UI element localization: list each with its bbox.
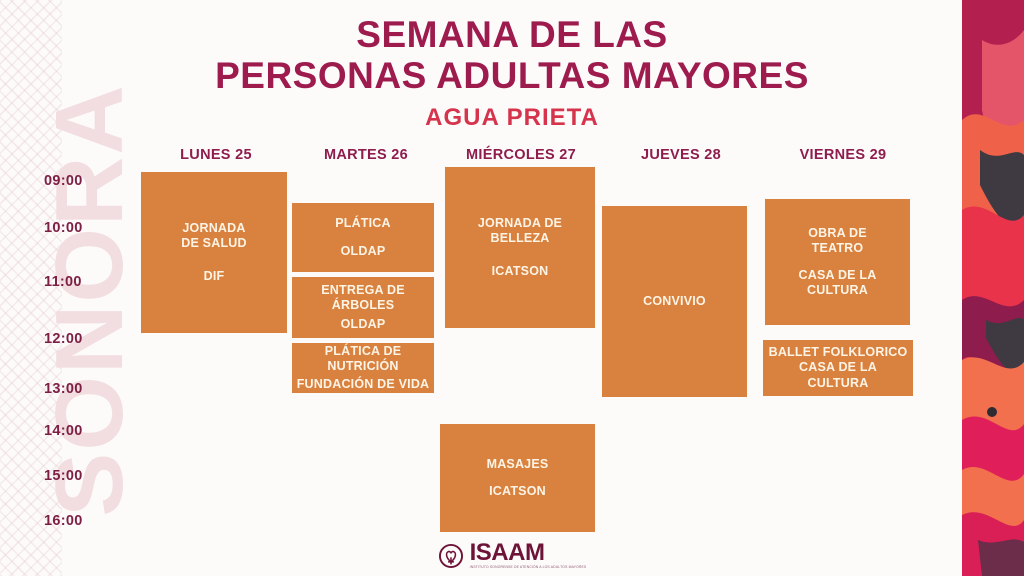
- event-title: JORNADA DE BELLEZA: [478, 216, 562, 247]
- day-header-jueves-28: JUEVES 28: [602, 147, 760, 163]
- day-header-martes-26: MARTES 26: [292, 147, 440, 163]
- event-block-entrega-de-arboles[interactable]: ENTREGA DE ÁRBOLES OLDAP: [292, 277, 434, 338]
- event-organizer: CASA DE LA CULTURA: [799, 360, 877, 391]
- event-organizer: CASA DE LA CULTURA: [799, 268, 877, 299]
- event-title: PLÁTICA: [335, 216, 391, 231]
- time-label-1300: 13:00: [44, 381, 114, 397]
- event-organizer: ICATSON: [492, 264, 549, 279]
- day-header-viernes-29: VIERNES 29: [760, 147, 926, 163]
- event-block-masajes[interactable]: MASAJES ICATSON: [440, 424, 595, 532]
- time-label-1600: 16:00: [44, 513, 114, 529]
- isaam-tagline: INSTITUTO SONORENSE DE ATENCIÓN A LOS AD…: [470, 566, 587, 570]
- time-label-0900: 09:00: [44, 173, 114, 189]
- day-header-miercoles-27: MIÉRCOLES 27: [440, 147, 602, 163]
- isaam-emblem-icon: [438, 543, 464, 569]
- time-label-1500: 15:00: [44, 468, 114, 484]
- event-block-platica-de-nutricion[interactable]: PLÁTICA DE NUTRICIÓN FUNDACIÓN DE VIDA: [292, 343, 434, 393]
- event-organizer: OLDAP: [341, 317, 386, 332]
- event-block-jornada-de-salud[interactable]: JORNADA DE SALUD DIF: [141, 172, 287, 333]
- event-organizer: FUNDACIÓN DE VIDA: [297, 377, 430, 392]
- time-label-1200: 12:00: [44, 331, 114, 347]
- event-block-platica-oldap[interactable]: PLÁTICA OLDAP: [292, 203, 434, 272]
- event-title: MASAJES: [487, 457, 549, 472]
- event-title: CONVIVIO: [643, 294, 706, 309]
- event-block-convivio[interactable]: CONVIVIO: [602, 206, 747, 397]
- event-block-obra-de-teatro[interactable]: OBRA DE TEATRO CASA DE LA CULTURA: [765, 199, 910, 325]
- day-header-lunes-25: LUNES 25: [140, 147, 292, 163]
- event-block-jornada-de-belleza[interactable]: JORNADA DE BELLEZA ICATSON: [445, 167, 595, 328]
- time-label-1100: 11:00: [44, 274, 114, 290]
- time-label-1400: 14:00: [44, 423, 114, 439]
- isaam-text-block: ISAAM INSTITUTO SONORENSE DE ATENCIÓN A …: [470, 541, 587, 570]
- isaam-logo: ISAAM INSTITUTO SONORENSE DE ATENCIÓN A …: [0, 541, 1024, 570]
- event-title: PLÁTICA DE NUTRICIÓN: [295, 344, 431, 375]
- event-title: OBRA DE TEATRO: [808, 226, 867, 257]
- time-label-1000: 10:00: [44, 220, 114, 236]
- event-block-ballet-folklorico[interactable]: BALLET FOLKLORICO CASA DE LA CULTURA: [763, 340, 913, 396]
- event-title: JORNADA DE SALUD: [181, 221, 247, 252]
- schedule-grid: LUNES 25 MARTES 26 MIÉRCOLES 27 JUEVES 2…: [0, 0, 1024, 576]
- event-title: ENTREGA DE ÁRBOLES: [321, 283, 405, 314]
- event-organizer: ICATSON: [489, 484, 546, 499]
- event-organizer: OLDAP: [341, 244, 386, 259]
- event-organizer: DIF: [204, 269, 225, 284]
- isaam-wordmark: ISAAM: [470, 541, 545, 565]
- event-title: BALLET FOLKLORICO: [769, 345, 908, 360]
